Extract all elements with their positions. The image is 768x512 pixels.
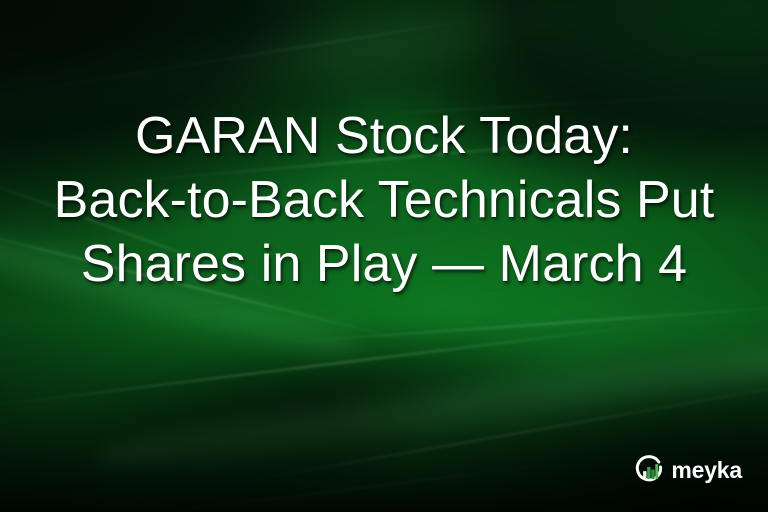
light-streak-9 [18,454,628,512]
light-streak-1 [0,9,534,105]
headline: GARAN Stock Today: Back-to-Back Technica… [0,104,768,296]
light-streak-6 [262,303,768,345]
social-card: GARAN Stock Today: Back-to-Back Technica… [0,0,768,512]
circular-bar-chart-icon [634,455,665,486]
headline-line-1: GARAN Stock Today: [22,104,746,168]
headline-line-3: Shares in Play — March 4 [22,232,746,296]
headline-line-2: Back-to-Back Technicals Put [22,168,746,232]
meyka-logo[interactable]: meyka [634,455,742,486]
light-streak-4 [0,319,689,411]
meyka-wordmark: meyka [671,459,742,482]
